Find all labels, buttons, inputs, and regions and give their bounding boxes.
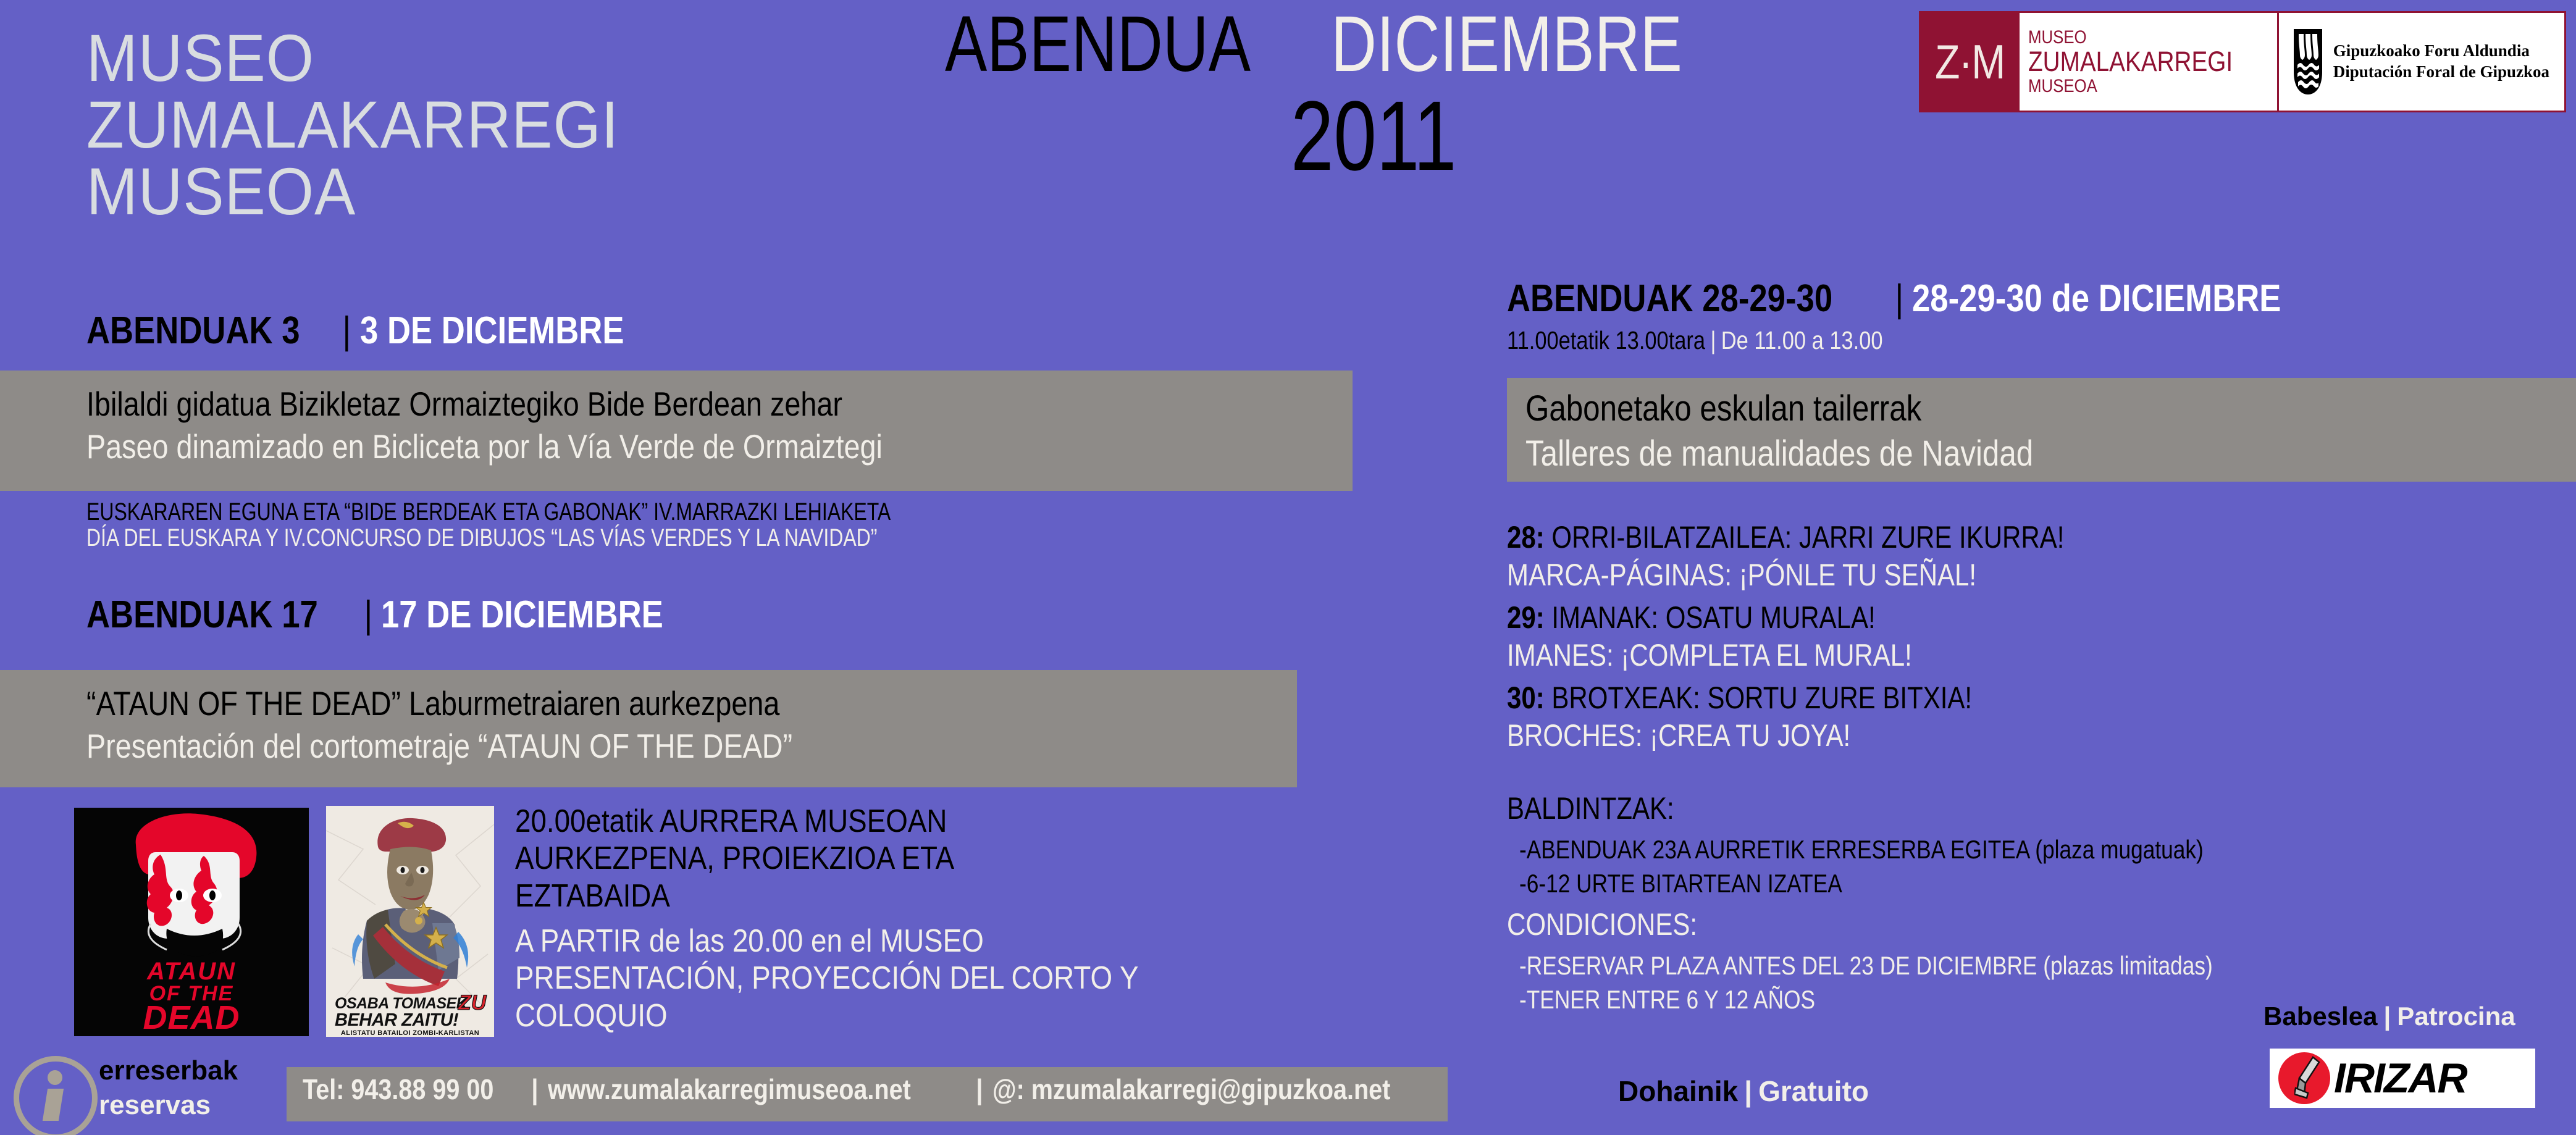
irizar-logo[interactable]: IRIZAR — [2270, 1049, 2535, 1108]
sponsor-label: Babeslea|Patrocina — [2263, 1002, 2515, 1031]
headline-month: ABENDUADICIEMBRE — [945, 5, 1770, 84]
masthead-line-1: MUSEO — [86, 25, 797, 91]
event-dec17-date-eu: ABENDUAK 17 — [86, 593, 318, 637]
workshop-item-29: 29: IMANAK: OSATU MURALA! IMANES: ¡COMPL… — [1507, 599, 1989, 674]
poster-root: MUSEO ZUMALAKARREGI MUSEOA ABENDUADICIEM… — [0, 0, 2576, 1135]
workshops-band-text: Gabonetako eskulan tailerrak Talleres de… — [1525, 387, 2123, 476]
workshop-29-es: IMANES: ¡COMPLETA EL MURAL! — [1507, 638, 1912, 672]
event-dec17-band-es: Presentación del cortometraje “ATAUN OF … — [86, 725, 792, 768]
event-dec3-sub: EUSKARAREN EGUNA ETA “BIDE BERDEAK ETA G… — [86, 499, 1092, 551]
contact-separator-1: | — [525, 1073, 545, 1106]
contact-website[interactable]: www.zumalakarregimuseoa.net — [548, 1073, 911, 1106]
conditions-eu-item-1: -ABENDUAK 23A AURRETIK ERRESERBA EGITEA … — [1519, 832, 2204, 866]
sponsor-label-separator: | — [2377, 1002, 2397, 1031]
free-entry-separator: | — [1738, 1075, 1758, 1107]
conditions-eu-title-text: BALDINTZAK: — [1507, 790, 1674, 826]
gipuzkoa-line-es: Diputación Foral de Gipuzkoa — [2333, 62, 2549, 83]
svg-text:DEAD: DEAD — [143, 999, 240, 1036]
logo-bar: Z·M MUSEO ZUMALAKARREGI MUSEOA — [1919, 11, 2566, 112]
contact-separator-2: | — [970, 1073, 989, 1106]
workshop-30-es: BROCHES: ¡CREA TU JOYA! — [1507, 718, 1850, 753]
zm-monogram-icon: Z·M — [1921, 13, 2020, 111]
event-dec17-heading: ABENDUAK 17|17 DE DICIEMBRE — [86, 593, 713, 637]
headline-year: 2011 — [1291, 86, 1503, 185]
workshops-time: 11.00etatik 13.00tara|De 11.00 a 13.00 — [1507, 326, 1954, 355]
conditions-es-item-1: -RESERVAR PLAZA ANTES DEL 23 DE DICIEMBR… — [1519, 949, 2213, 982]
workshops-time-eu: 11.00etatik 13.00tara — [1507, 326, 1705, 354]
zm-word-line-1: MUSEO — [2028, 28, 2233, 48]
ataun-of-the-dead-poster[interactable]: ATAUN OF THE DEAD — [74, 808, 309, 1036]
svg-text:ATAUN: ATAUN — [146, 958, 236, 985]
workshops-time-separator: | — [1705, 326, 1721, 354]
free-entry-label: Dohainik|Gratuito — [1618, 1074, 1869, 1108]
svg-text:ZU: ZU — [458, 991, 487, 1015]
free-entry-es: Gratuito — [1758, 1075, 1869, 1107]
workshop-30-day: 30: — [1507, 681, 1545, 715]
conditions-eu-list: -ABENDUAK 23A AURRETIK ERRESERBA EGITEA … — [1519, 832, 2334, 901]
event-dec3-date-es: 3 DE DICIEMBRE — [360, 309, 624, 353]
info-icon-dot — [48, 1070, 62, 1085]
reserve-labels: erreserbak reservas — [99, 1053, 238, 1123]
event-dec3-sub-eu: EUSKARAREN EGUNA ETA “BIDE BERDEAK ETA G… — [86, 499, 891, 525]
event-dec17-band-text: “ATAUN OF THE DEAD” Laburmetraiaren aurk… — [86, 682, 917, 768]
screening-es-line-3: COLOQUIO — [515, 997, 1138, 1034]
contact-email[interactable]: @: mzumalakarregi@gipuzkoa.net — [992, 1073, 1390, 1106]
workshops-heading: ABENDUAK 28-29-30|28-29-30 de DICIEMBRE — [1507, 277, 2346, 320]
zm-word-line-2: ZUMALAKARREGI — [2028, 47, 2233, 76]
svg-text:BEHAR ZAITU!: BEHAR ZAITU! — [335, 1010, 459, 1030]
workshop-item-30: 30: BROTXEAK: SORTU ZURE BITXIA! BROCHES… — [1507, 679, 2061, 755]
masthead: MUSEO ZUMALAKARREGI MUSEOA — [86, 25, 858, 225]
conditions-eu-title: BALDINTZAK: — [1507, 790, 1706, 826]
svg-text:ALISTATU BATAILOI ZOMBI-KARLIS: ALISTATU BATAILOI ZOMBI-KARLISTAN — [341, 1029, 479, 1037]
sponsor-label-eu: Babeslea — [2263, 1002, 2377, 1031]
event-dec3-heading: ABENDUAK 3|3 DE DICIEMBRE — [86, 309, 671, 353]
event-dec3-sub-es: DÍA DEL EUSKARA Y IV.CONCURSO DE DIBUJOS… — [86, 525, 891, 551]
workshop-30-eu: BROTXEAK: SORTU ZURE BITXIA! — [1551, 681, 1972, 715]
gipuzkoa-line-eu: Gipuzkoako Foru Aldundia — [2333, 41, 2549, 62]
event-dec17-band-eu: “ATAUN OF THE DEAD” Laburmetraiaren aurk… — [86, 682, 792, 725]
zm-monogram-text: Z·M — [1935, 34, 2005, 90]
screening-es: A PARTIR de las 20.00 en el MUSEO PRESEN… — [515, 923, 1223, 1034]
irizar-mark-icon — [2278, 1052, 2330, 1104]
screening-eu: 20.00etatik AURRERA MUSEOAN AURKEZPENA, … — [515, 803, 1014, 915]
screening-eu-line-2: AURKEZPENA, PROIEKZIOA ETA — [515, 840, 954, 877]
zm-wordmark: MUSEO ZUMALAKARREGI MUSEOA — [2020, 13, 2279, 111]
conditions-es-item-2: -TENER ENTRE 6 Y 12 AÑOS — [1519, 982, 2213, 1016]
conditions-eu-item-2: -6-12 URTE BITARTEAN IZATEA — [1519, 866, 2204, 900]
zm-word-line-3: MUSEOA — [2028, 77, 2233, 96]
contact-tel[interactable]: Tel: 943.88 99 00 — [303, 1073, 493, 1106]
conditions-es-title-text: CONDICIONES: — [1507, 907, 1697, 942]
irizar-wordmark: IRIZAR — [2334, 1054, 2467, 1102]
info-circle-icon — [14, 1056, 98, 1135]
screening-eu-line-3: EZTABAIDA — [515, 877, 954, 915]
screening-eu-line-1: 20.00etatik AURRERA MUSEOAN — [515, 803, 954, 840]
event-dec3-date-eu: ABENDUAK 3 — [86, 309, 300, 353]
workshops-band-eu: Gabonetako eskulan tailerrak — [1525, 387, 2033, 432]
masthead-line-2: ZUMALAKARREGI — [86, 91, 797, 158]
masthead-line-3: MUSEOA — [86, 158, 797, 225]
event-dec3-band-eu: Ibilaldi gidatua Bizikletaz Ormaiztegiko… — [86, 383, 883, 425]
osaba-tomasek-poster[interactable]: OSABA TOMASEK ZU BEHAR ZAITU! ALISTATU B… — [326, 806, 494, 1037]
svg-text:OSABA TOMASEK: OSABA TOMASEK — [335, 995, 469, 1012]
event-dec3-band-es: Paseo dinamizado en Bicliceta por la Vía… — [86, 425, 883, 468]
workshops-date-eu: ABENDUAK 28-29-30 — [1507, 277, 1832, 320]
reserve-label-es: reservas — [99, 1088, 238, 1123]
zumalakarregi-logo[interactable]: Z·M MUSEO ZUMALAKARREGI MUSEOA — [1921, 13, 2279, 111]
headline-month-es: DICIEMBRE — [1331, 5, 1682, 84]
screening-es-line-2: PRESENTACIÓN, PROYECCIÓN DEL CORTO Y — [515, 960, 1138, 997]
workshop-28-eu: ORRI-BILATZAILEA: JARRI ZURE IKURRA! — [1551, 520, 2064, 555]
event-dec17-date-es: 17 DE DICIEMBRE — [381, 593, 663, 637]
workshop-29-day: 29: — [1507, 600, 1545, 635]
free-entry-eu: Dohainik — [1618, 1075, 1738, 1107]
workshops-separator: | — [1890, 277, 1909, 320]
event-dec3-band-text: Ibilaldi gidatua Bizikletaz Ormaiztegiko… — [86, 383, 1023, 468]
sponsor-label-es: Patrocina — [2397, 1002, 2515, 1031]
workshops-date-es: 28-29-30 de DICIEMBRE — [1912, 277, 2281, 320]
conditions-es-list: -RESERVAR PLAZA ANTES DEL 23 DE DICIEMBR… — [1519, 949, 2345, 1017]
workshop-29-eu: IMANAK: OSATU MURALA! — [1551, 600, 1875, 635]
headline-month-eu: ABENDUA — [945, 5, 1251, 84]
headline-year-text: 2011 — [1291, 86, 1456, 185]
workshop-item-28: 28: ORRI-BILATZAILEA: JARRI ZURE IKURRA!… — [1507, 519, 2170, 594]
workshops-time-es: De 11.00 a 13.00 — [1721, 326, 1883, 354]
info-icon-stem — [43, 1089, 64, 1121]
event-dec3-separator: | — [337, 309, 356, 353]
screening-es-line-1: A PARTIR de las 20.00 en el MUSEO — [515, 923, 1138, 960]
workshop-28-es: MARCA-PÁGINAS: ¡PÓNLE TU SEÑAL! — [1507, 558, 1976, 592]
workshops-band-es: Talleres de manualidades de Navidad — [1525, 432, 2033, 477]
event-dec17-separator: | — [359, 593, 378, 637]
contact-line: Tel: 943.88 99 00|www.zumalakarregimuseo… — [303, 1073, 1455, 1106]
gipuzkoa-wordmark: Gipuzkoako Foru Aldundia Diputación Fora… — [2333, 41, 2549, 83]
gipuzkoa-logo[interactable]: Gipuzkoako Foru Aldundia Diputación Fora… — [2279, 13, 2564, 111]
gipuzkoa-shield-icon — [2293, 28, 2323, 96]
reserve-label-eu: erreserbak — [99, 1053, 238, 1088]
workshop-28-day: 28: — [1507, 520, 1545, 555]
conditions-es-title: CONDICIONES: — [1507, 907, 1734, 942]
